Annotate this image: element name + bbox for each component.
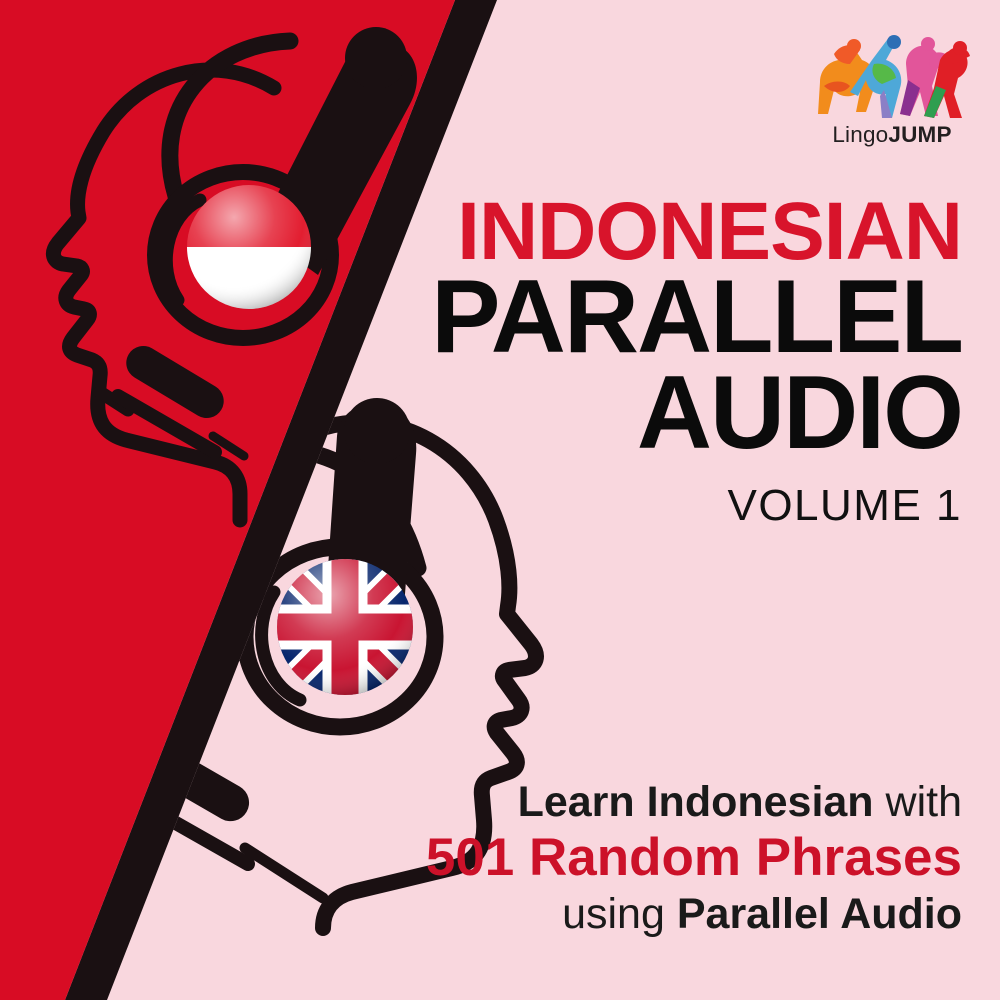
title-language: INDONESIAN [362, 196, 962, 268]
united-kingdom-flag [277, 559, 413, 695]
audiobook-cover: LingoJUMP INDONESIAN PARALLEL AUDIO VOLU… [0, 0, 1000, 1000]
lingojump-logo: LingoJUMP [806, 30, 978, 162]
subtitle-with [874, 778, 886, 826]
subtitle-with-word: with [886, 778, 962, 826]
subtitle-line-1: Learn Indonesian with [322, 778, 962, 826]
logo-wordmark: LingoJUMP [806, 124, 978, 147]
subtitle-block: Learn Indonesian with 501 Random Phrases… [322, 778, 962, 938]
four-jumping-people-icon [814, 30, 970, 122]
subtitle-parallel-audio: Parallel Audio [677, 890, 962, 938]
title-audio: AUDIO [362, 368, 962, 460]
subtitle-using: using [562, 890, 665, 938]
title-block: INDONESIAN PARALLEL AUDIO VOLUME 1 [362, 196, 962, 526]
volume-label: VOLUME 1 [362, 487, 962, 526]
subtitle-line-2: 501 Random Phrases [322, 828, 962, 887]
subtitle-line-3: using Parallel Audio [322, 890, 962, 938]
logo-word-jump: JUMP [888, 122, 951, 147]
subtitle-learn-language: Learn Indonesian [518, 778, 874, 826]
title-parallel: PARALLEL [362, 272, 962, 364]
logo-word-lingo: Lingo [832, 122, 888, 147]
